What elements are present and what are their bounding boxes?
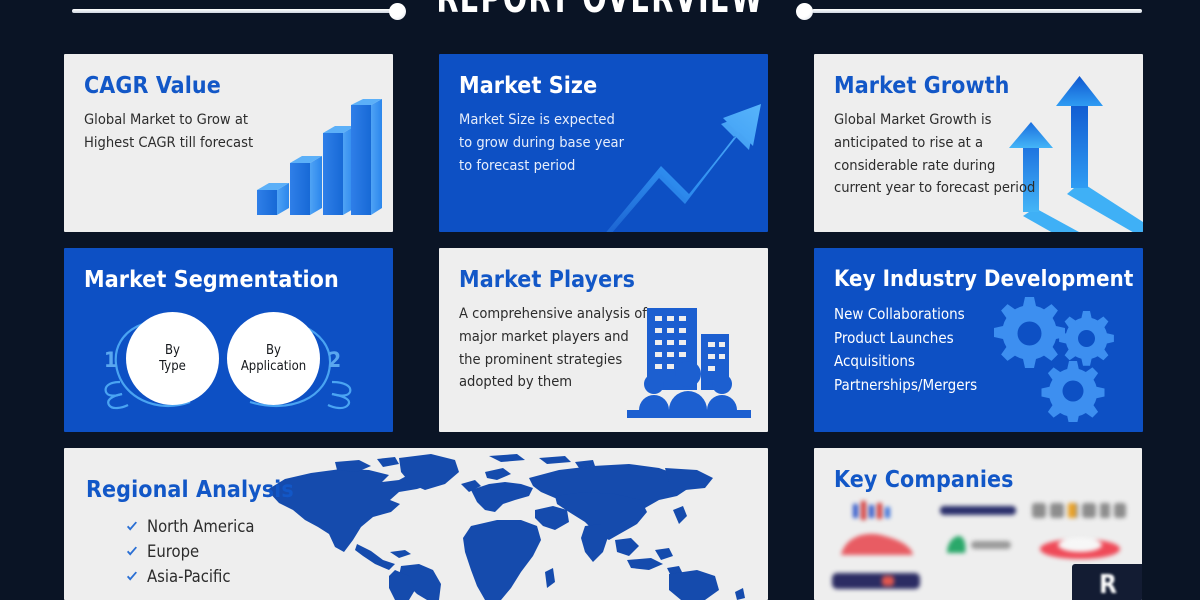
page-title: REPORT OVERVIEW [132,0,1068,22]
segment-circle-by-application-line-2: Application [241,359,306,375]
card-market-growth-body-line-2: anticipated to rise at a [834,132,1125,155]
key-industry-development-item-3: Acquisitions [834,350,1125,374]
segment-number-2: 2 [328,348,341,372]
region-item-europe[interactable]: Europe [126,539,768,564]
card-market-growth-body-line-3: considerable rate during [834,155,1125,178]
segment-number-1: 1 [104,348,117,372]
card-cagr-body: Global Market to Grow at Highest CAGR ti… [84,109,375,155]
card-regional-analysis-title: Regional Analysis [86,478,768,502]
region-label-europe: Europe [147,539,199,564]
card-market-players-body: A comprehensive analysis of major market… [459,303,750,394]
region-item-north-america[interactable]: North America [126,514,768,539]
key-industry-development-item-1: New Collaborations [834,303,1125,327]
card-market-players-body-line-2: major market players and [459,326,750,349]
card-market-growth[interactable]: Market Growth Global Market Growth is an… [814,54,1143,232]
card-market-growth-title: Market Growth [834,74,1125,98]
card-key-companies-title: Key Companies [834,468,1124,492]
card-grid: CAGR Value Global Market to Grow at High… [64,54,1142,600]
card-market-growth-body-line-4: current year to forecast period [834,177,1125,200]
card-row-2: Market Segmentation [64,248,1142,432]
corner-watermark-badge: R [1072,564,1142,600]
checkmark-icon [126,546,138,558]
region-label-north-america: North America [147,514,254,539]
card-key-industry-development-title: Key Industry Development [834,268,1125,291]
card-market-segmentation[interactable]: Market Segmentation [64,248,393,432]
card-market-growth-body-line-1: Global Market Growth is [834,109,1125,132]
card-cagr-body-line-2: Highest CAGR till forecast [84,132,375,155]
key-industry-development-item-4: Partnerships/Mergers [834,374,1125,398]
segment-circle-by-type-line-1: By [165,343,180,359]
company-logo-5 [930,531,1026,562]
card-market-size[interactable]: Market Size Market Size is expected to g… [439,54,768,232]
corner-watermark-letter: R [1099,570,1117,600]
segment-circle-by-application-line-1: By [266,343,281,359]
card-cagr-value[interactable]: CAGR Value Global Market to Grow at High… [64,54,393,232]
card-key-companies[interactable]: Key Companies [814,448,1142,600]
infographic-root: REPORT OVERVIEW CAGR Value Global Market… [0,0,1200,600]
card-market-size-body-line-3: to forecast period [459,155,750,178]
checkmark-icon [126,571,138,583]
checkmark-icon [126,521,138,533]
card-cagr-title: CAGR Value [84,74,375,98]
company-logo-8 [930,565,1026,596]
card-row-1: CAGR Value Global Market to Grow at High… [64,54,1142,232]
regional-analysis-list: North America Europe Asia-Pacific [126,514,768,589]
card-market-players[interactable]: Market Players A comprehensive analysis … [439,248,768,432]
segment-circle-by-application[interactable]: By Application [227,312,320,405]
company-logo-7 [828,565,924,596]
card-market-size-body-line-1: Market Size is expected [459,109,750,132]
card-market-segmentation-title: Market Segmentation [84,268,375,292]
company-logo-6 [1032,531,1128,562]
card-market-players-body-line-1: A comprehensive analysis of [459,303,750,326]
card-row-3: Regional Analysis North America Europe A… [64,448,1142,600]
card-market-size-title: Market Size [459,74,750,98]
card-market-size-body-line-2: to grow during base year [459,132,750,155]
region-item-asia-pacific[interactable]: Asia-Pacific [126,564,768,589]
company-logo-2 [930,496,1026,527]
company-logo-3 [1032,496,1128,527]
segment-circle-by-type-line-2: Type [159,359,186,375]
card-cagr-body-line-1: Global Market to Grow at [84,109,375,132]
segment-circle-by-type[interactable]: By Type [126,312,219,405]
card-regional-analysis[interactable]: Regional Analysis North America Europe A… [64,448,768,600]
card-market-players-body-line-4: adopted by them [459,371,750,394]
card-market-growth-body: Global Market Growth is anticipated to r… [834,109,1125,200]
card-market-size-body: Market Size is expected to grow during b… [459,109,750,177]
key-industry-development-item-2: Product Launches [834,327,1125,351]
card-market-players-body-line-3: the prominent strategies [459,349,750,372]
header: REPORT OVERVIEW [0,0,1200,34]
card-key-industry-development[interactable]: Key Industry Development New Collaborati… [814,248,1143,432]
segmentation-diagram: 1 2 By Type By Application [100,304,370,424]
company-logo-1 [828,496,924,527]
region-label-asia-pacific: Asia-Pacific [147,564,231,589]
card-market-players-title: Market Players [459,268,750,292]
company-logo-4 [828,531,924,562]
key-industry-development-list: New Collaborations Product Launches Acqu… [834,303,1125,398]
